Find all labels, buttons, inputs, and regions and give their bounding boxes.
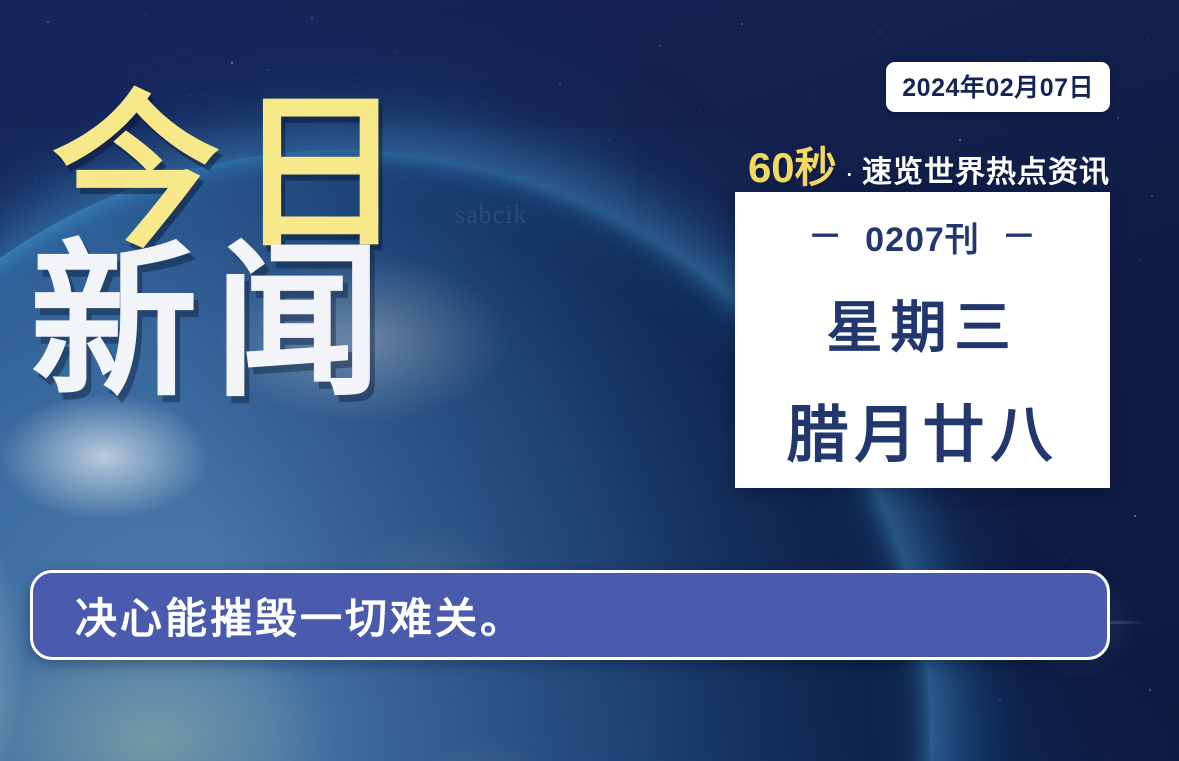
tagline-seconds: 60秒 <box>748 134 837 195</box>
quote-text: 决心能摧毁一切难关。 <box>33 585 525 646</box>
quote-bar: 决心能摧毁一切难关。 <box>30 570 1110 660</box>
tagline-separator-dot: · <box>843 157 856 189</box>
headline: 今日 新闻 <box>52 96 482 399</box>
date-badge: 2024年02月07日 <box>886 62 1110 112</box>
issue-dash-right: － <box>1002 220 1037 254</box>
info-card: － 0207刊 － 星期三 腊月廿八 <box>735 192 1110 488</box>
issue-dash-left: － <box>808 220 843 254</box>
tagline-text: 速览世界热点资讯 <box>862 147 1110 191</box>
issue-number: 0207刊 <box>865 212 980 261</box>
issue-row: － 0207刊 － <box>808 212 1037 261</box>
lunar-date-label: 腊月廿八 <box>786 384 1058 474</box>
tagline: 60秒 · 速览世界热点资讯 <box>748 134 1110 195</box>
weekday-label: 星期三 <box>827 283 1019 364</box>
news-poster: sabcik 今日 新闻 2024年02月07日 60秒 · 速览世界热点资讯 … <box>0 0 1179 761</box>
